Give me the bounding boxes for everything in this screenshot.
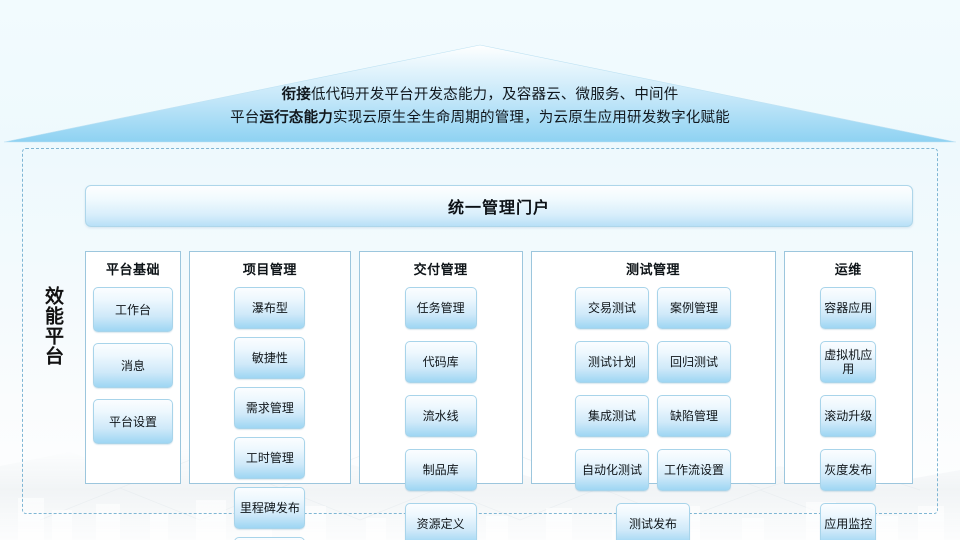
tile-xuqiuguanli[interactable]: 需求管理 <box>234 387 305 429</box>
tile-daimaku[interactable]: 代码库 <box>405 341 477 383</box>
column-operations: 运维 容器应用 虚拟机应用 滚动升级 灰度发布 应用监控 应用告警 <box>784 251 914 484</box>
tile-gongshiguanli[interactable]: 工时管理 <box>234 437 305 479</box>
roof-line-1-rest: 低代码开发平台开发态能力，及容器云、微服务、中间件 <box>311 87 679 103</box>
tile-gundongshengji[interactable]: 滚动升级 <box>820 395 876 437</box>
tile-label: 里程碑发布 <box>240 501 300 515</box>
tile-grid: 交易测试 案例管理 测试计划 回归测试 集成测试 缺陷管理 自动化测试 工作流设… <box>539 287 768 540</box>
tile-ziyuandingyi[interactable]: 资源定义 <box>405 503 477 540</box>
roof-line-1: 衔接低代码开发平台开发态能力，及容器云、微服务、中间件 <box>0 84 960 107</box>
roof-line-2: 平台运行态能力实现云原生全生命周期的管理，为云原生应用研发数字化赋能 <box>0 107 960 130</box>
column-delivery-management: 交付管理 任务管理 代码库 流水线 制品库 资源定义 环境管理 <box>359 251 523 484</box>
tile-ceshifabu[interactable]: 测试发布 <box>616 503 690 540</box>
tile-gongzuoliushezhi[interactable]: 工作流设置 <box>657 449 731 491</box>
tile-yingyongjiankong[interactable]: 应用监控 <box>820 503 876 540</box>
unified-portal-title: 统一管理门户 <box>448 194 550 218</box>
tile-label: 集成测试 <box>588 409 636 423</box>
tile-xuniji-yingyong[interactable]: 虚拟机应用 <box>820 341 876 383</box>
tile-label: 敏捷性 <box>252 351 288 365</box>
column-title: 项目管理 <box>243 262 297 278</box>
tile-label: 工作台 <box>115 303 151 317</box>
capability-columns: 平台基础 工作台 消息 平台设置 项目管理 瀑布型 敏捷性 需求管理 工时管理 … <box>85 251 913 484</box>
tile-label: 缺陷管理 <box>670 409 718 423</box>
tile-label: 自动化测试 <box>582 463 642 477</box>
tile-label: 容器应用 <box>824 301 872 315</box>
tile-label: 滚动升级 <box>824 409 872 423</box>
tile-ceshijihua[interactable]: 测试计划 <box>575 341 649 383</box>
tile-quexianguanli[interactable]: 缺陷管理 <box>657 395 731 437</box>
roof-line-2-pre: 平台 <box>230 110 259 126</box>
tile-label: 测试计划 <box>588 355 636 369</box>
tile-pingtaishezhi[interactable]: 平台设置 <box>93 399 173 444</box>
tile-grid: 瀑布型 敏捷性 需求管理 工时管理 里程碑发布 项目代码 效能报表 分析视图 <box>197 287 343 540</box>
tile-jiaoyiceshi[interactable]: 交易测试 <box>575 287 649 329</box>
tile-zhipinku[interactable]: 制品库 <box>405 449 477 491</box>
diagram-canvas: 衔接低代码开发平台开发态能力，及容器云、微服务、中间件 平台运行态能力实现云原生… <box>0 0 960 540</box>
tile-label: 需求管理 <box>246 401 294 415</box>
tile-label: 案例管理 <box>670 301 718 315</box>
tile-gongzuotai[interactable]: 工作台 <box>93 287 173 332</box>
tile-jichengceshi[interactable]: 集成测试 <box>575 395 649 437</box>
tile-label: 应用监控 <box>824 517 872 531</box>
roof-header-text: 衔接低代码开发平台开发态能力，及容器云、微服务、中间件 平台运行态能力实现云原生… <box>0 84 960 130</box>
tile-xiaoxi[interactable]: 消息 <box>93 343 173 388</box>
tile-label: 测试发布 <box>629 517 677 531</box>
tile-label: 平台设置 <box>109 415 157 429</box>
column-title: 平台基础 <box>106 262 160 278</box>
tile-label: 交易测试 <box>588 301 636 315</box>
tile-lichengbeifabu[interactable]: 里程碑发布 <box>234 487 305 529</box>
roof-line-2-rest: 实现云原生全生命周期的管理，为云原生应用研发数字化赋能 <box>333 110 730 126</box>
tile-label: 回归测试 <box>670 355 718 369</box>
roof-line-1-bold: 衔接 <box>282 87 311 103</box>
column-test-management: 测试管理 交易测试 案例管理 测试计划 回归测试 集成测试 缺陷管理 自动化测试… <box>531 251 776 484</box>
tile-huidufabu[interactable]: 灰度发布 <box>820 449 876 491</box>
tile-anliguanli[interactable]: 案例管理 <box>657 287 731 329</box>
tile-label: 流水线 <box>423 409 459 423</box>
roof-header: 衔接低代码开发平台开发态能力，及容器云、微服务、中间件 平台运行态能力实现云原生… <box>0 0 960 148</box>
tile-label: 任务管理 <box>417 301 465 315</box>
tile-renwuguanli[interactable]: 任务管理 <box>405 287 477 329</box>
column-platform-basic: 平台基础 工作台 消息 平台设置 <box>85 251 181 484</box>
roof-line-2-bold: 运行态能力 <box>260 110 334 126</box>
tile-liushuixian[interactable]: 流水线 <box>405 395 477 437</box>
tile-label: 灰度发布 <box>824 463 872 477</box>
column-title: 交付管理 <box>414 262 468 278</box>
tile-label: 消息 <box>121 359 145 373</box>
platform-vertical-label: 效能平台 <box>38 286 64 366</box>
tile-grid: 任务管理 代码库 流水线 制品库 资源定义 环境管理 <box>367 287 515 540</box>
tile-label: 代码库 <box>423 355 459 369</box>
unified-portal-banner[interactable]: 统一管理门户 <box>85 185 913 227</box>
tile-zidonghuaceshi[interactable]: 自动化测试 <box>575 449 649 491</box>
tile-grid: 容器应用 虚拟机应用 滚动升级 灰度发布 应用监控 应用告警 <box>792 287 906 540</box>
tile-label: 资源定义 <box>417 517 465 531</box>
tile-label: 工作流设置 <box>664 463 724 477</box>
tile-rongqiyingyong[interactable]: 容器应用 <box>820 287 876 329</box>
tile-label: 工时管理 <box>246 451 294 465</box>
tile-label: 瀑布型 <box>252 301 288 315</box>
tile-label: 制品库 <box>423 463 459 477</box>
column-title: 测试管理 <box>626 262 680 278</box>
column-title: 运维 <box>835 262 862 278</box>
tile-pubuxing[interactable]: 瀑布型 <box>234 287 305 329</box>
tile-minjiexing[interactable]: 敏捷性 <box>234 337 305 379</box>
tile-label: 虚拟机应用 <box>824 348 872 376</box>
tile-grid: 工作台 消息 平台设置 <box>93 287 173 444</box>
column-project-management: 项目管理 瀑布型 敏捷性 需求管理 工时管理 里程碑发布 项目代码 效能报表 分… <box>189 251 351 484</box>
tile-huiguiceshi[interactable]: 回归测试 <box>657 341 731 383</box>
